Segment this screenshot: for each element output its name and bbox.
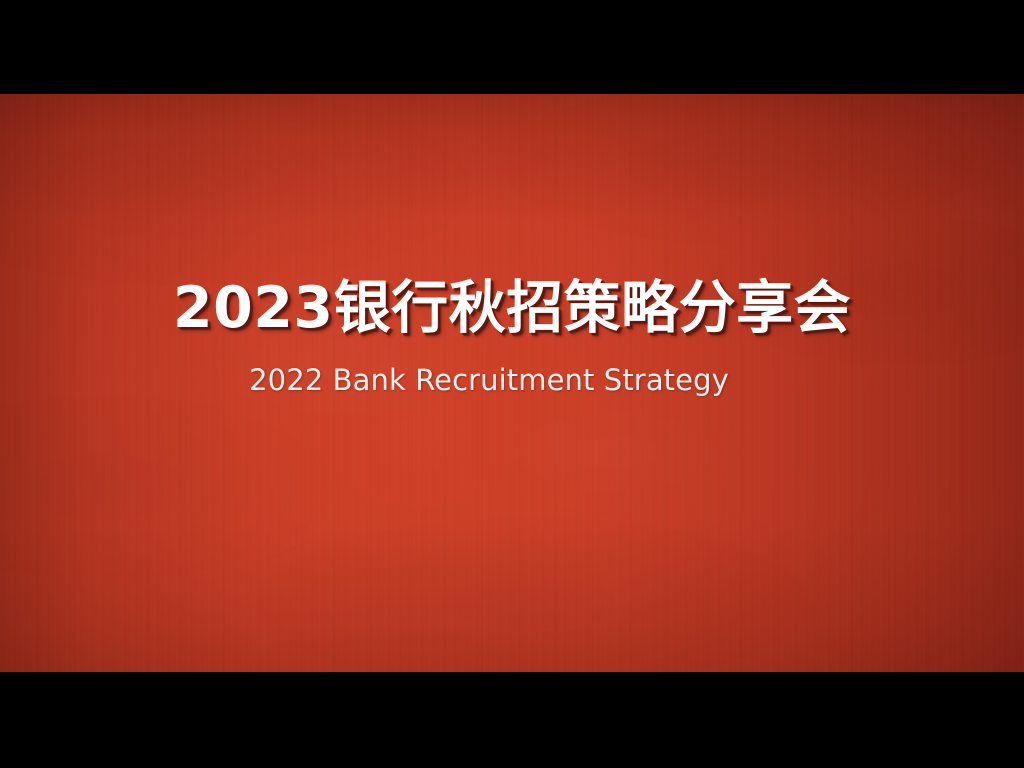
presentation-slide: 2023银行秋招策略分享会 2022 Bank Recruitment Stra…	[0, 94, 1024, 672]
letterbox-bar-bottom	[0, 672, 1024, 768]
slide-subtitle: 2022 Bank Recruitment Strategy	[0, 361, 1024, 399]
letterbox-bar-top	[0, 0, 1024, 94]
video-viewer: 2023银行秋招策略分享会 2022 Bank Recruitment Stra…	[0, 0, 1024, 768]
slide-title: 2023银行秋招策略分享会	[0, 272, 1024, 344]
